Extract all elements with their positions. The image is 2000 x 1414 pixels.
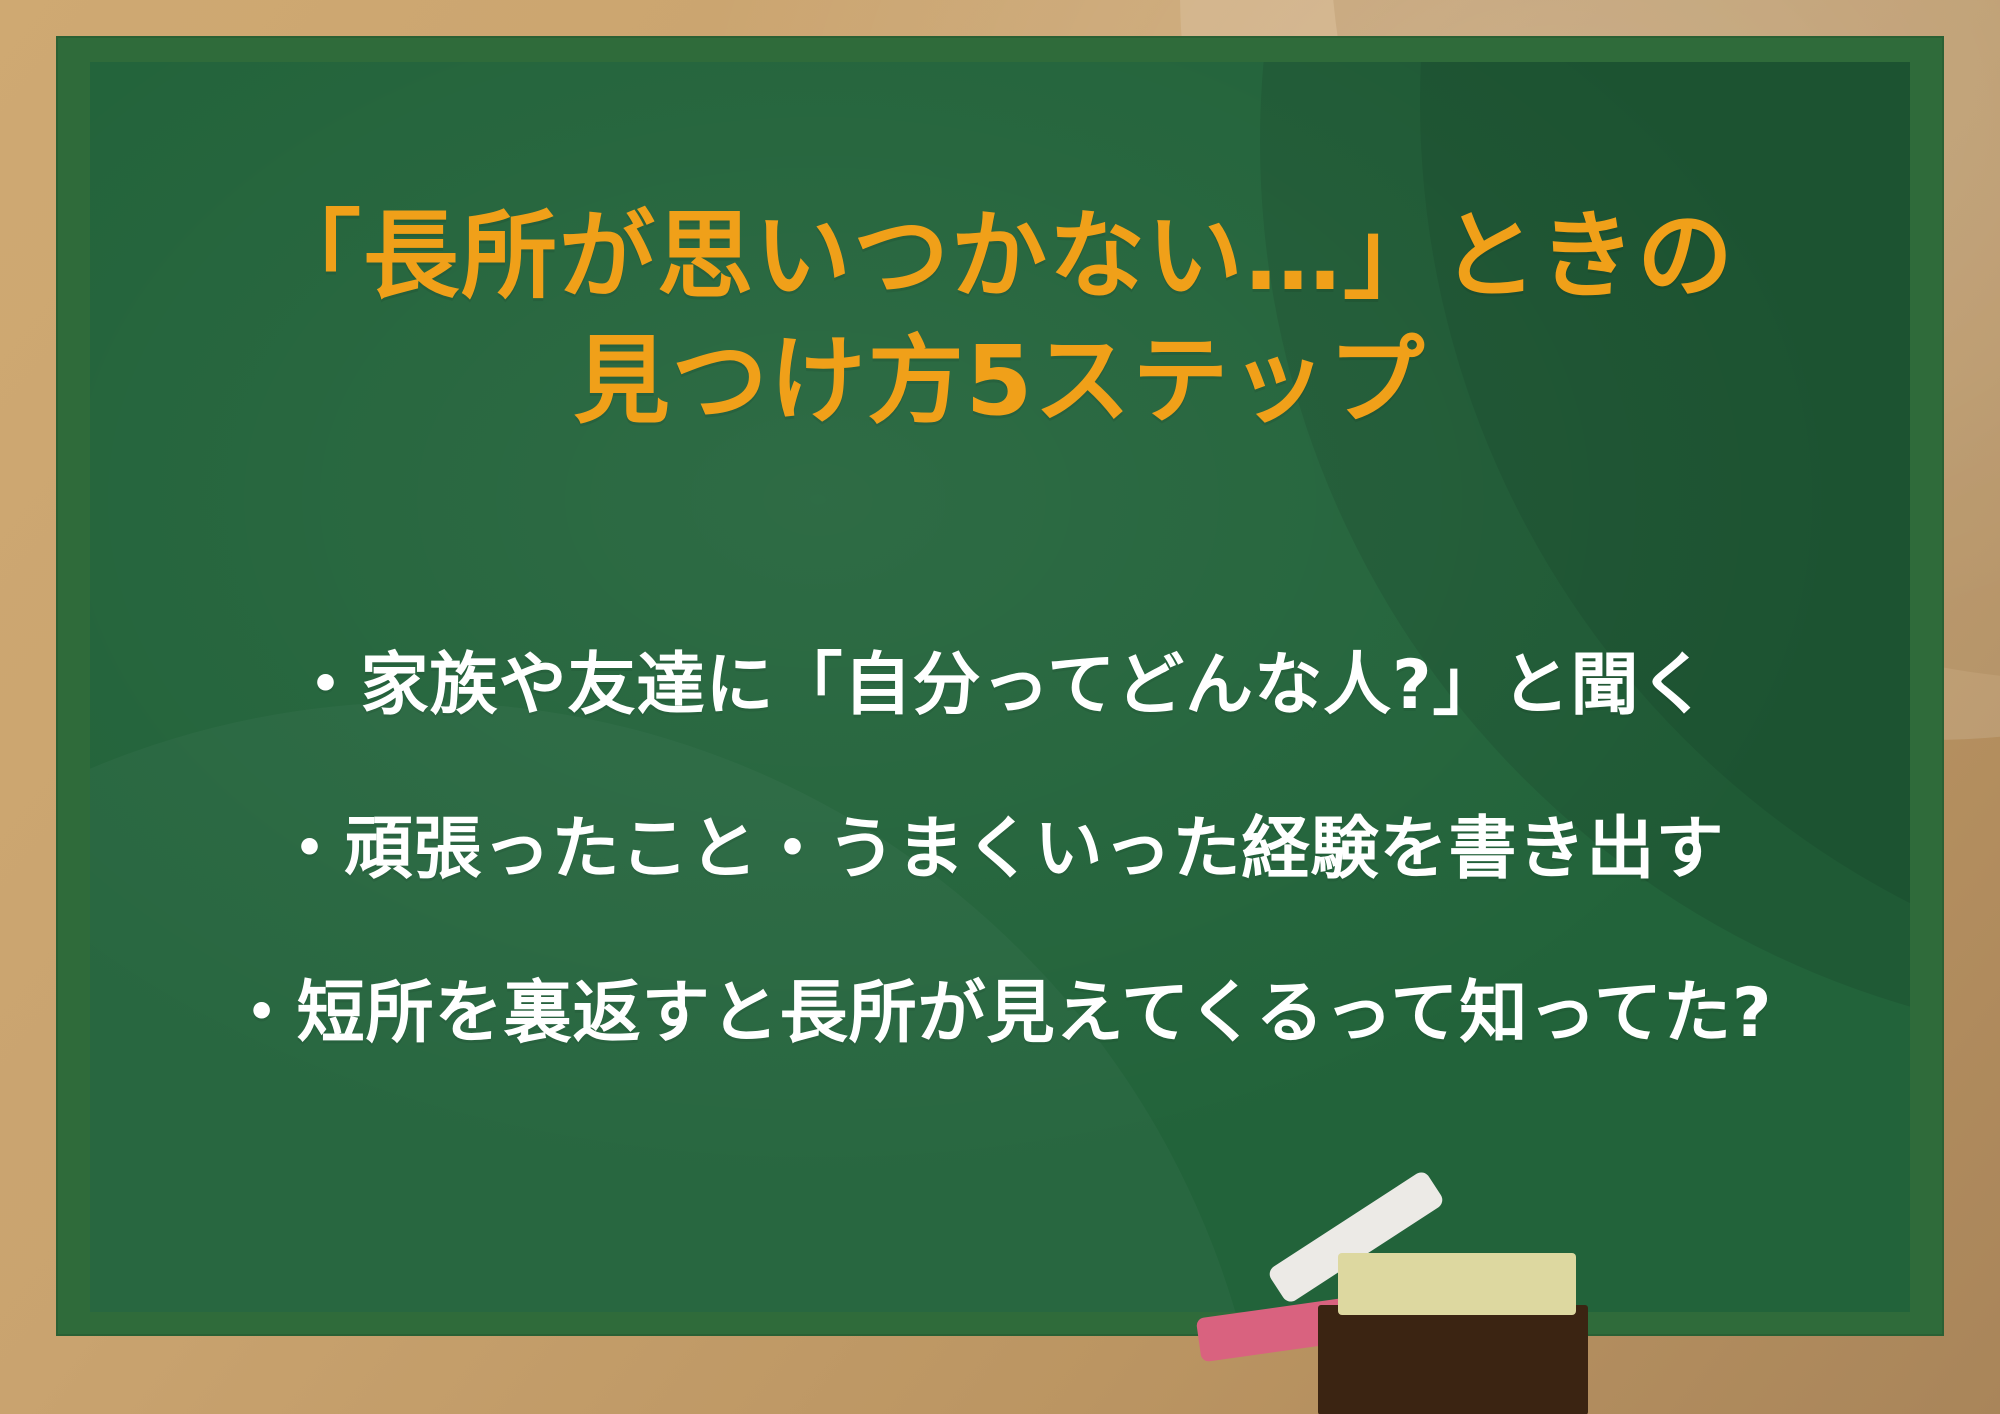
page-title: 「長所が思いつかない…」ときの 見つけ方5ステップ (90, 194, 1910, 444)
list-item: ・頑張ったこと・うまくいった経験を書き出す (90, 816, 1910, 884)
list-item: ・家族や友達に「自分ってどんな人?」と聞く (90, 652, 1910, 720)
chalk-tray-items (1300, 1195, 1800, 1414)
board-content: 「長所が思いつかない…」ときの 見つけ方5ステップ ・家族や友達に「自分ってどん… (90, 62, 1910, 1312)
slide-canvas: 「長所が思いつかない…」ときの 見つけ方5ステップ ・家族や友達に「自分ってどん… (0, 0, 2000, 1414)
chalkboard-surface: 「長所が思いつかない…」ときの 見つけ方5ステップ ・家族や友達に「自分ってどん… (90, 62, 1910, 1312)
blackboard-eraser-body-icon (1318, 1305, 1588, 1414)
bullet-list: ・家族や友達に「自分ってどんな人?」と聞く ・頑張ったこと・うまくいった経験を書… (90, 652, 1910, 1048)
blackboard-eraser-felt-icon (1338, 1253, 1576, 1315)
list-item: ・短所を裏返すと長所が見えてくるって知ってた? (90, 980, 1910, 1048)
